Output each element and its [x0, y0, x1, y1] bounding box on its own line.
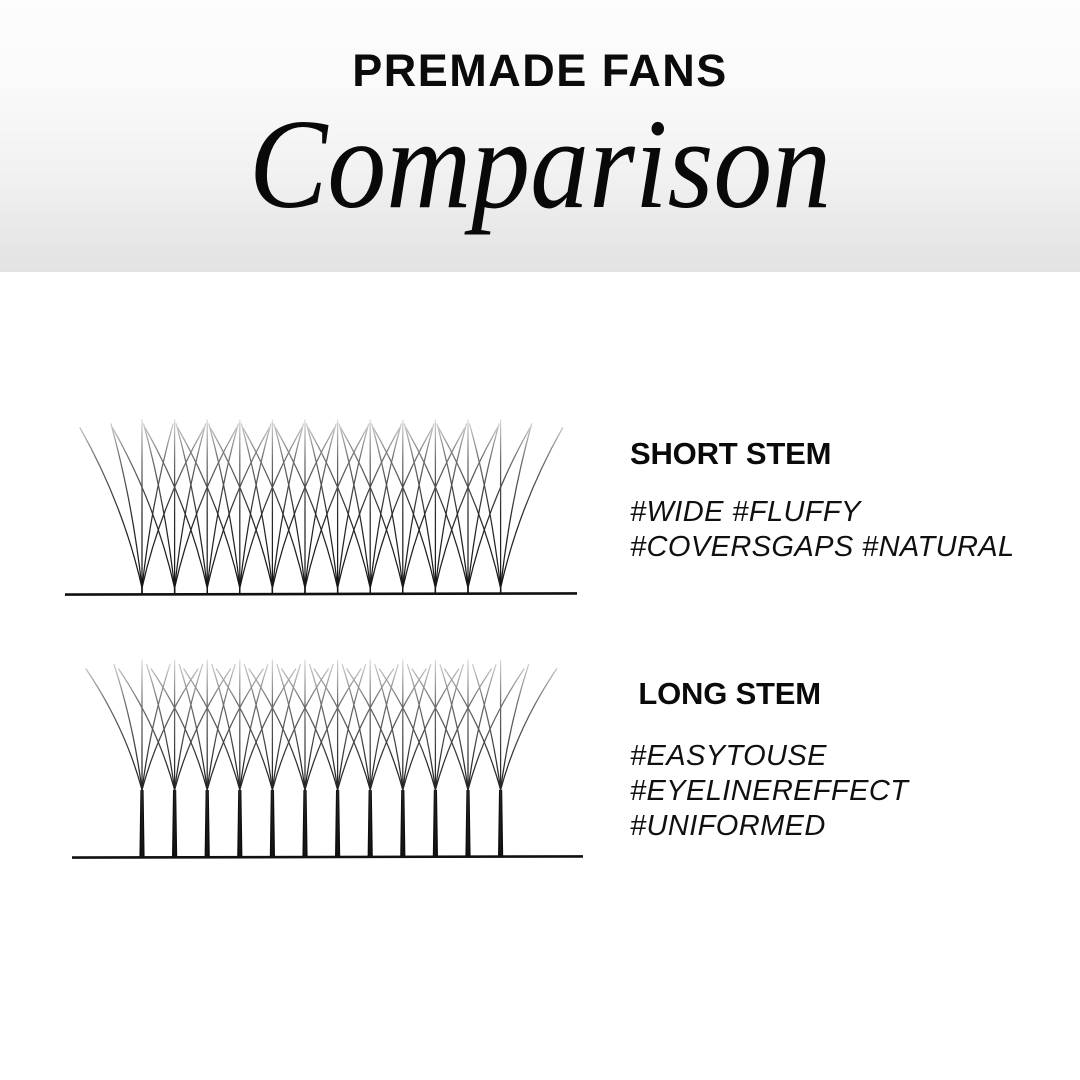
lash-strand	[501, 428, 563, 594]
long-stem-lash-fan-diagram	[56, 648, 601, 873]
lash-strand	[501, 669, 557, 857]
lash-strand	[80, 428, 142, 594]
lash-strip-baseline	[72, 856, 583, 857]
short-stem-lash-fan-diagram	[50, 405, 595, 610]
long-stem-tag-list: #EASYTOUSE #EYELINEREFFECT #UNIFORMED	[630, 739, 1060, 844]
short-stem-tag-list: #WIDE #FLUFFY #COVERSGAPS #NATURAL	[630, 495, 1060, 565]
list-item: #UNIFORMED	[630, 809, 1060, 844]
page-script-title: Comparison	[43, 100, 1037, 228]
lash-strand	[114, 664, 142, 857]
short-stem-info-block: SHORT STEM #WIDE #FLUFFY #COVERSGAPS #NA…	[630, 438, 1060, 565]
short-stem-lash-svg	[50, 405, 595, 610]
poster-canvas: PREMADE FANS Comparison SHORT STEM #WIDE…	[0, 0, 1080, 1080]
list-item: #EYELINEREFFECT	[630, 774, 1060, 809]
long-stem-info-block: LONG STEM #EASYTOUSE #EYELINEREFFECT #UN…	[630, 678, 1060, 844]
short-stem-heading: SHORT STEM	[630, 438, 1060, 471]
list-item: #COVERSGAPS #NATURAL	[630, 530, 1060, 565]
list-item: #WIDE #FLUFFY	[630, 495, 1060, 530]
lash-fan-group	[86, 660, 557, 857]
list-item: #EASYTOUSE	[630, 739, 1060, 774]
lash-strand	[501, 664, 529, 857]
long-stem-lash-svg	[56, 648, 601, 873]
page-eyebrow-title: PREMADE FANS	[0, 48, 1080, 93]
lash-fan-group	[80, 420, 563, 594]
lash-strand	[86, 669, 142, 857]
lash-strip-baseline	[65, 593, 577, 594]
long-stem-heading: LONG STEM	[630, 678, 1060, 711]
